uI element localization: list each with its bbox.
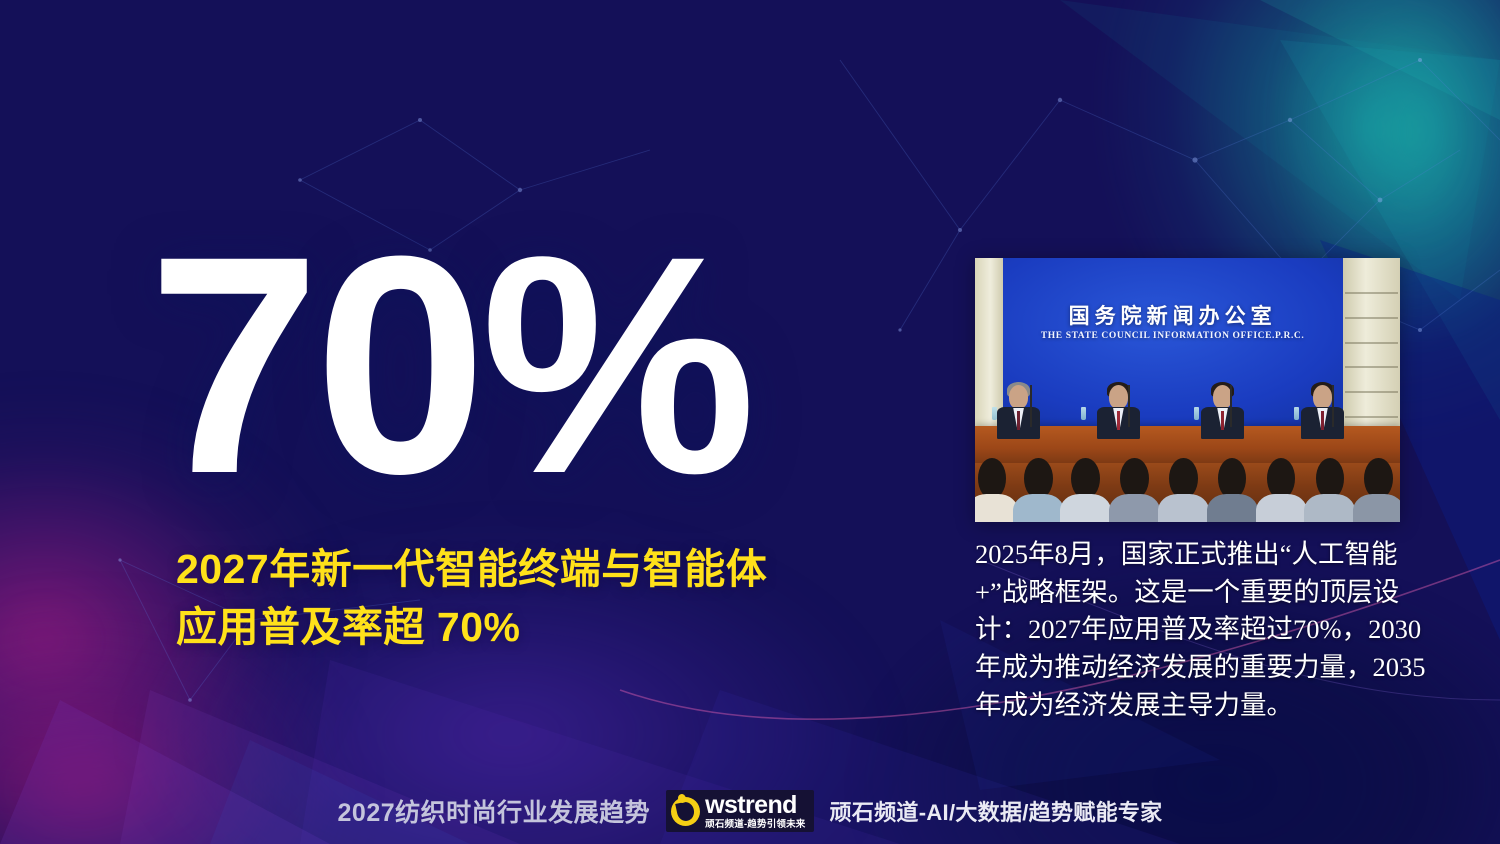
wstrend-logo-text: wstrend 顽石频道-趋势引领未来	[705, 793, 805, 830]
photo-panelist	[1096, 385, 1141, 438]
photo-audience	[1060, 453, 1111, 522]
wstrend-logo-icon	[671, 797, 700, 826]
photo-backdrop	[1003, 258, 1343, 443]
photo-panelist	[1200, 385, 1245, 438]
photo-right-column	[1343, 258, 1400, 448]
logo-wordmark: wstrend	[705, 793, 805, 818]
description-paragraph: 2025年8月，国家正式推出“人工智能+”战略框架。这是一个重要的顶层设计：20…	[975, 536, 1427, 724]
photo-audience	[1207, 453, 1258, 522]
headline-line-2: 应用普及率超 70%	[176, 598, 876, 656]
presentation-slide: 70% 2027年新一代智能终端与智能体 应用普及率超 70% 国务院新闻办公室…	[0, 0, 1500, 844]
photo-panelist	[996, 385, 1041, 438]
photo-audience	[1256, 453, 1307, 522]
photo-audience	[975, 453, 1018, 522]
headline: 2027年新一代智能终端与智能体 应用普及率超 70%	[176, 540, 876, 656]
photo-audience	[1158, 453, 1209, 522]
photo-panelist	[1300, 385, 1345, 438]
stat-value: 70%	[148, 232, 750, 499]
logo-subtitle: 顽石频道-趋势引领未来	[705, 820, 805, 830]
photo-audience	[1013, 453, 1064, 522]
footer-title: 2027纺织时尚行业发展趋势	[338, 793, 651, 829]
photo-banner-english: THE STATE COUNCIL INFORMATION OFFICE.P.R…	[1009, 331, 1336, 341]
footer-bar: 2027纺织时尚行业发展趋势 wstrend 顽石频道-趋势引领未来 顽石频道-…	[0, 778, 1500, 844]
wstrend-logo: wstrend 顽石频道-趋势引领未来	[666, 790, 813, 833]
headline-line-1: 2027年新一代智能终端与智能体	[176, 546, 767, 592]
photo-audience	[1109, 453, 1160, 522]
press-conference-photo: 国务院新闻办公室 THE STATE COUNCIL INFORMATION O…	[975, 258, 1400, 522]
footer-tagline: 顽石频道-AI/大数据/趋势赋能专家	[830, 795, 1163, 827]
photo-audience	[1304, 453, 1355, 522]
photo-banner-chinese: 国务院新闻办公室	[1009, 300, 1336, 330]
photo-audience	[1353, 453, 1400, 522]
